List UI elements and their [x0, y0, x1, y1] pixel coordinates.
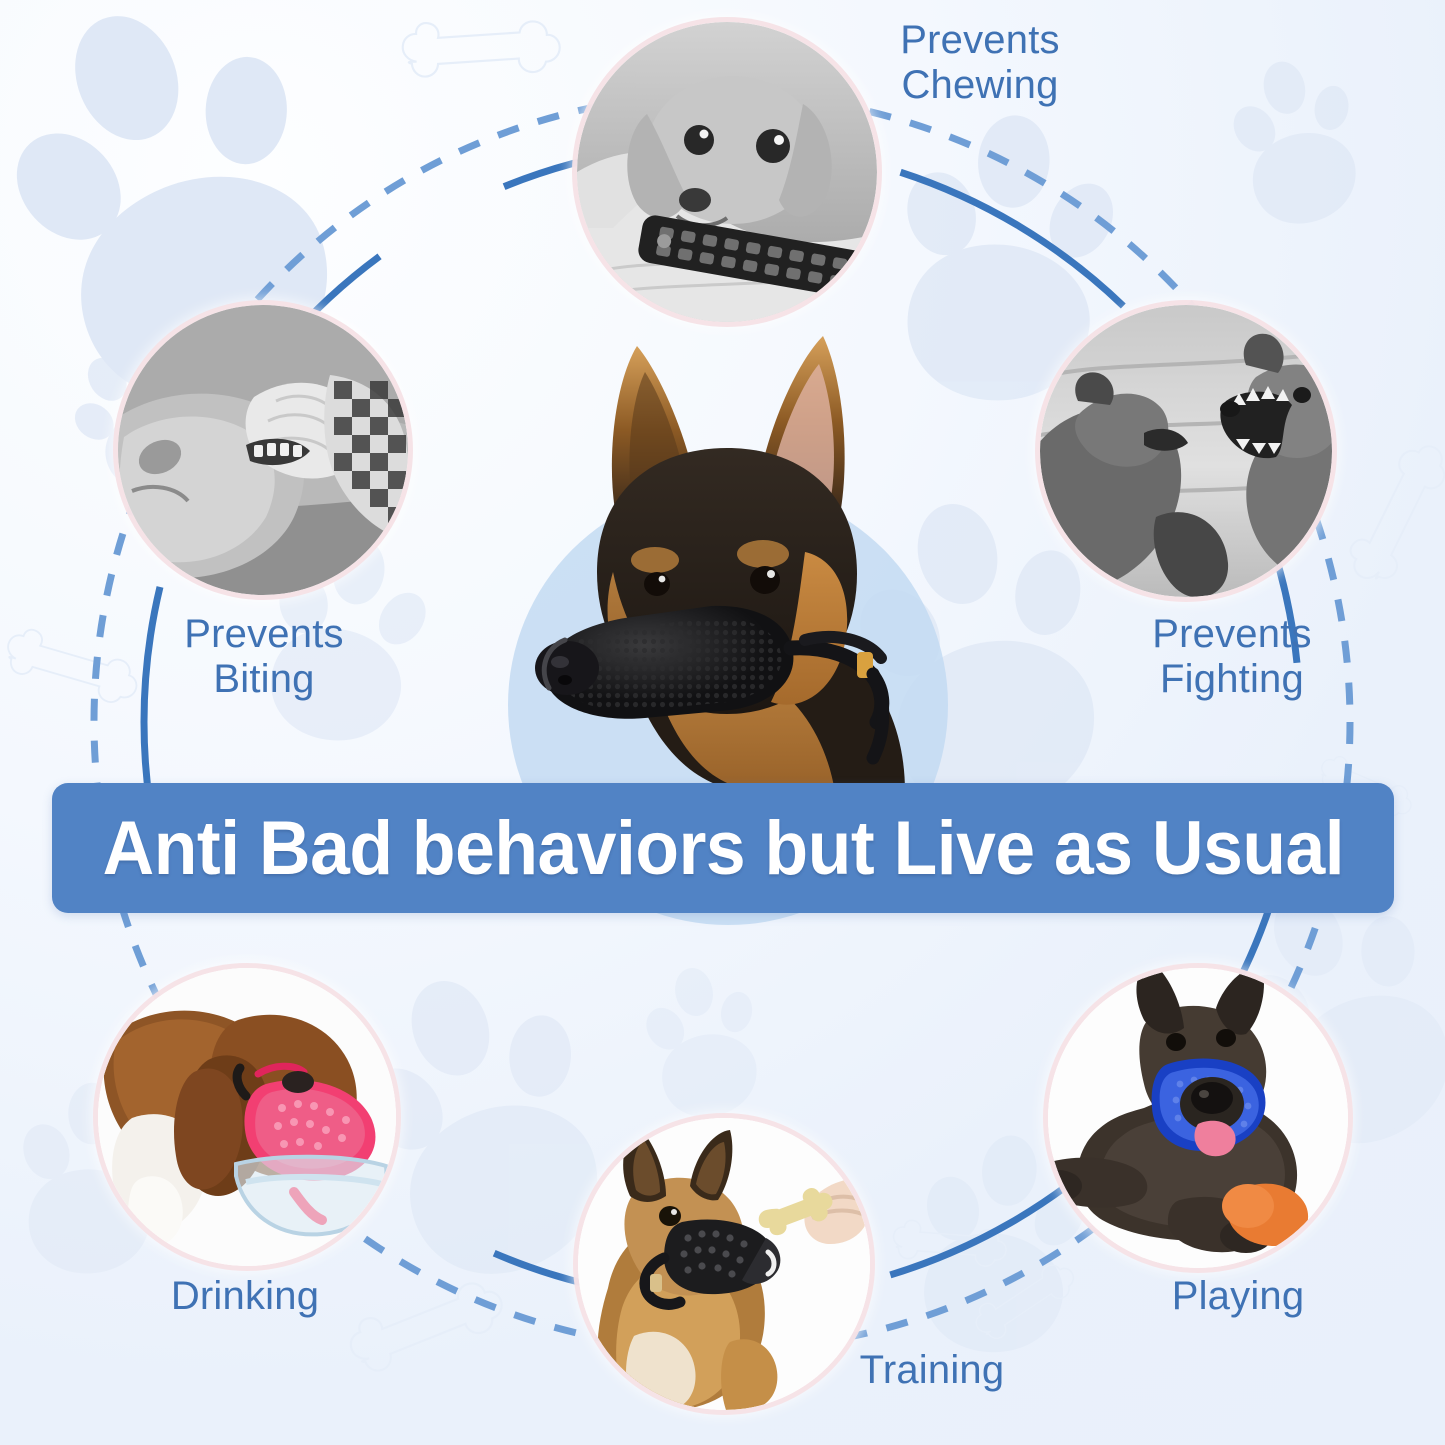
image-dog-biting-hand	[118, 305, 408, 595]
image-puppy-chewing-remote	[577, 22, 877, 322]
label-prevents-chewing: Prevents Chewing	[856, 18, 1104, 108]
benefit-photo-prevents-fighting[interactable]	[1040, 305, 1332, 597]
infographic-canvas: Prevents Chewing	[0, 0, 1445, 1445]
image-two-dogs-fighting	[1040, 305, 1332, 597]
label-drinking: Drinking	[125, 1274, 365, 1319]
label-prevents-biting: Prevents Biting	[140, 612, 388, 702]
center-dog-with-muzzle	[505, 322, 955, 792]
headline-banner: Anti Bad behaviors but Live as Usual	[52, 783, 1394, 913]
benefit-photo-prevents-biting[interactable]	[118, 305, 408, 595]
label-playing: Playing	[1118, 1274, 1358, 1319]
image-beagle-drinking	[98, 968, 396, 1266]
label-training: Training	[744, 1348, 1120, 1393]
benefit-photo-drinking[interactable]	[98, 968, 396, 1266]
benefit-photo-playing[interactable]	[1048, 968, 1348, 1268]
image-malinois-playing	[1048, 968, 1348, 1268]
label-prevents-fighting: Prevents Fighting	[1108, 612, 1356, 702]
benefit-photo-prevents-chewing[interactable]	[577, 22, 877, 322]
headline-text: Anti Bad behaviors but Live as Usual	[102, 805, 1344, 892]
